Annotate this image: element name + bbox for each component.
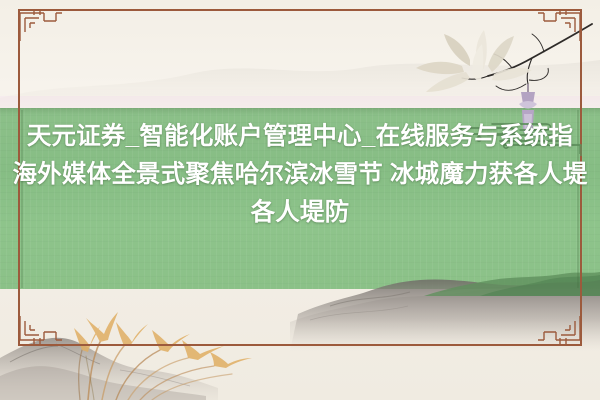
band-top-shadow [0, 108, 600, 115]
title-line-1: 天元证券_智能化账户管理中心_在线服务与系统指 [0, 118, 600, 156]
banner-canvas: 天元证券_智能化账户管理中心_在线服务与系统指 海外媒体全景式聚焦哈尔滨冰雪节 … [0, 0, 600, 400]
title-line-3: 各人堤防 [0, 194, 600, 232]
title-line-2: 海外媒体全景式聚焦哈尔滨冰雪节 冰城魔力获各人堤 [0, 156, 600, 194]
banner-title-block: 天元证券_智能化账户管理中心_在线服务与系统指 海外媒体全景式聚焦哈尔滨冰雪节 … [0, 118, 600, 232]
